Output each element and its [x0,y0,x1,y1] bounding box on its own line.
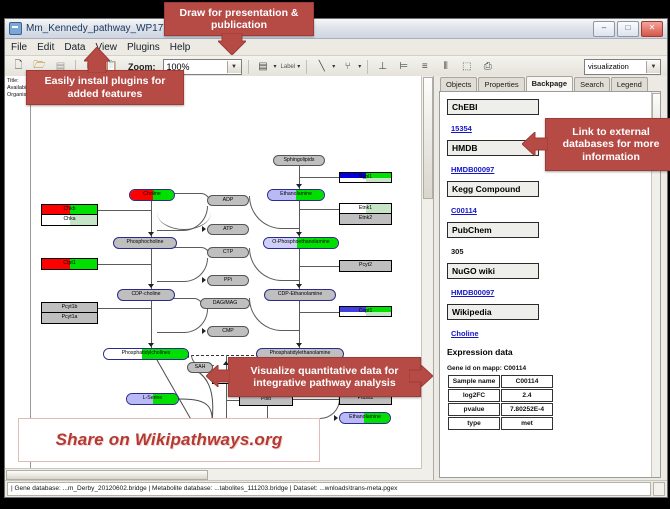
expression-data-title: Expression data [447,347,652,357]
table-row: pvalue 7.80252E-4 [448,403,553,416]
print-icon[interactable]: ⎙ [479,58,496,75]
visualization-combobox[interactable]: visualization ▼ [584,59,661,75]
table-cell: pvalue [448,403,500,416]
callout-arrow-up-icon [84,47,110,73]
visualization-value: visualization [588,60,646,74]
align-left-icon[interactable]: ⊨ [395,58,412,75]
node-gene-etnk1[interactable]: Etnk1 [339,203,392,214]
tab-objects[interactable]: Objects [440,77,477,91]
node-dag-mag[interactable]: DAG/MAG [200,298,250,309]
window-controls: – □ ✕ [593,21,663,37]
edge [293,399,339,400]
node-l-serine-left[interactable]: L-Serine [126,393,179,405]
receptor-icon: ⑂ [339,58,356,75]
chevron-down-icon[interactable]: ▾ [297,63,300,70]
edge [299,266,339,267]
db-value-pubchem: 305 [451,247,464,256]
menu-item-help[interactable]: Help [170,42,191,53]
toolbar-separator [367,60,368,74]
align-top-icon[interactable]: ⊥ [374,58,391,75]
node-cmp[interactable]: CMP [207,326,249,337]
node-label: Pcyt1b [62,305,78,310]
node-label: CDP-Ethanolamine [278,292,322,297]
edge-curve [157,206,208,231]
node-label: Pcyt2 [359,263,372,268]
toolbar-separator [248,60,249,74]
line-icon: ╲ [313,58,330,75]
callout-links: Link to external databases for more info… [545,118,670,171]
node-label: PPi [224,278,232,283]
node-ethanolamine-right[interactable]: Ethanolamine [339,412,391,424]
node-gene-chka[interactable]: Chka [41,215,98,226]
window-titlebar: Mm_Kennedy_pathway_WP1771_45176.gpml – □… [5,19,667,39]
edge [98,210,151,211]
arrow-icon [296,184,302,188]
node-ethanolamine[interactable]: Ethanolamine [267,189,325,201]
edge [299,209,339,210]
table-cell: Sample name [448,375,500,388]
line-tool[interactable]: ╲ ▾ [313,58,335,75]
db-link-chebi[interactable]: 15354 [451,124,472,133]
label-tool-label: Label [281,64,296,70]
canvas-vertical-scrollbar[interactable] [421,76,433,480]
edge-curve [157,309,208,333]
node-label: Phosphatidylethanolamine [270,351,331,356]
table-cell: C00114 [501,375,553,388]
datanode-icon: ▤ [255,58,272,75]
node-label: Phosphocholine [127,240,164,245]
edge [98,264,151,265]
node-label: Phosphatidylcholines [122,351,171,356]
node-label: Etnk1 [359,206,372,211]
menu-item-plugins[interactable]: Plugins [127,42,160,53]
db-link-nugo-wiki[interactable]: HMDB00097 [451,288,494,297]
table-row: type met [448,417,553,430]
datanode-tool[interactable]: ▤ ▾ [255,58,277,75]
node-label: Choline [143,192,161,197]
db-link-kegg-compound[interactable]: C00114 [451,206,477,215]
edge [299,312,339,313]
tab-legend[interactable]: Legend [611,77,648,91]
node-label: Pisd [261,397,271,402]
node-gene-ctpt1[interactable]: Ctpt1 [41,258,98,270]
table-cell: 7.80252E-4 [501,403,553,416]
db-link-hmdb[interactable]: HMDB00097 [451,165,494,174]
toolbar-separator [306,60,307,74]
canvas-horizontal-scrollbar[interactable] [5,468,422,480]
arrow-icon [334,415,338,421]
node-atp[interactable]: ATP [207,224,249,235]
sidebar-tabs: Objects Properties Backpage Search Legen… [434,76,667,91]
table-cell: 2.4 [501,389,553,402]
node-label: DAG/MAG [213,301,238,306]
chevron-down-icon[interactable]: ▾ [358,63,361,70]
node-o-phosphoethanolamine[interactable]: O-Phosphoethanolamine [263,237,339,249]
db-header-wikipedia: Wikipedia [447,304,539,320]
node-gene-chkb[interactable]: Chkb [41,204,98,215]
db-header-chebi: ChEBI [447,99,539,115]
node-label: Ethanolamine [349,415,381,420]
node-label: Etnk2 [359,216,372,221]
node-choline-top[interactable]: Choline [129,189,175,201]
node-label: Pcyt1a [62,315,78,320]
share-banner: Share on Wikipathways.org [18,418,320,462]
node-label: Cept1 [359,309,373,314]
callout-arrow-down-icon [218,33,246,55]
node-gene-pcyt1b[interactable]: Pcyt1b [41,302,98,313]
tab-search[interactable]: Search [574,77,610,91]
label-tool[interactable]: Label ▾ [281,63,301,70]
edge [98,308,151,309]
arrow-icon [296,284,302,288]
db-header-pubchem: PubChem [447,222,539,238]
table-row: log2FC 2.4 [448,389,553,402]
edge-curve [285,399,340,419]
minimize-button[interactable]: – [593,21,615,37]
status-resize-grip[interactable] [653,482,665,496]
callout-visualize: Visualize quantitative data for integrat… [228,357,421,397]
callout-draw: Draw for presentation & publication [164,2,314,36]
node-label: ATP [223,227,233,232]
expression-table: Sample name C00114 log2FC 2.4 pvalue 7.8… [447,374,554,431]
maximize-button[interactable]: □ [617,21,639,37]
chevron-down-icon[interactable]: ▼ [646,61,660,73]
share-banner-text: Share on Wikipathways.org [56,430,283,450]
app-logo-icon [9,22,22,35]
arrow-icon [148,284,154,288]
node-label: SAH [195,365,206,370]
node-cdp-ethanolamine[interactable]: CDP-Ethanolamine [264,289,336,301]
gene-id-on-mapp: Gene id on mapp: C00114 [447,365,652,372]
arrow-icon [296,232,302,236]
node-gene-cept1[interactable]: Cept1 [339,306,392,317]
node-label: CMP [222,329,234,334]
db-header-kegg-compound: Kegg Compound [447,181,539,197]
node-gene-pcyt2[interactable]: Pcyt2 [339,260,392,272]
node-cdp-choline[interactable]: CDP-choline [117,289,175,301]
arrow-icon [202,328,206,334]
db-header-nugo-wiki: NuGO wiki [447,263,539,279]
arrow-icon [148,343,154,347]
db-link-wikipedia[interactable]: Choline [451,329,479,338]
edge-curve [249,248,300,281]
node-phosphocholine[interactable]: Phosphocholine [113,237,177,249]
node-sphingolipids[interactable]: Sphingolipids [273,155,325,166]
callout-arrow-left-icon [206,365,230,387]
table-cell: met [501,417,553,430]
chevron-down-icon[interactable]: ▾ [274,63,277,70]
node-ppi[interactable]: PPi [207,275,249,286]
edge-curve [157,258,208,282]
distribute-icon[interactable]: ⦀ [437,58,454,75]
chevron-down-icon[interactable]: ▾ [332,63,335,70]
node-ctp[interactable]: CTP [207,247,249,258]
edge [151,301,152,348]
node-label: CTP [223,250,233,255]
screenshot-root: Mm_Kennedy_pathway_WP1771_45176.gpml – □… [0,0,670,509]
receptor-tool[interactable]: ⑂ ▾ [339,58,361,75]
node-label: Sphingolipids [284,158,315,163]
node-label: Sgpl1 [359,175,372,180]
node-label: Ptdss2 [358,396,374,401]
tab-properties[interactable]: Properties [478,77,524,91]
node-label: Chka [63,217,75,222]
edge [226,400,239,401]
width-icon[interactable]: ⬚ [458,58,475,75]
callout-plugins: Easily install plugins for added feature… [26,70,184,105]
arrow-icon [148,232,154,236]
status-bar-text: | Gene database: ...m_Derby_20120602.bri… [5,481,397,497]
node-gene-pcyt1a[interactable]: Pcyt1a [41,313,98,324]
edge [299,177,339,178]
close-button[interactable]: ✕ [641,21,663,37]
node-label: Ethanolamine [280,192,312,197]
node-label: O-Phosphoethanolamine [272,240,329,245]
node-label: CDP-choline [131,292,160,297]
arrow-icon [202,277,206,283]
tab-backpage[interactable]: Backpage [526,76,573,91]
callout-arrow-left-icon [522,132,548,156]
table-cell: log2FC [448,389,500,402]
node-gene-sgpl1[interactable]: Sgpl1 [339,172,392,183]
arrow-icon [296,343,302,347]
node-label: L-Serine [143,396,163,401]
callout-arrow-right-icon [409,365,433,387]
node-gene-etnk2[interactable]: Etnk2 [339,214,392,225]
menu-item-file[interactable]: File [11,42,27,53]
node-phosphatidylcholines[interactable]: Phosphatidylcholines [103,348,189,360]
arrow-icon [202,226,206,232]
menu-item-data[interactable]: Data [64,42,85,53]
node-label: Ctpt1 [63,261,75,266]
stack-icon[interactable]: ≡ [416,58,433,75]
table-row: Sample name C00114 [448,375,553,388]
node-adp[interactable]: ADP [207,195,249,206]
edge [151,249,152,289]
table-cell: type [448,417,500,430]
node-label: Chkb [63,207,75,212]
node-label: ADP [223,198,234,203]
new-file-icon[interactable]: 🗋 [10,58,27,75]
chevron-down-icon[interactable]: ▼ [227,61,241,73]
menu-item-edit[interactable]: Edit [37,42,54,53]
edge-curve [249,298,300,331]
